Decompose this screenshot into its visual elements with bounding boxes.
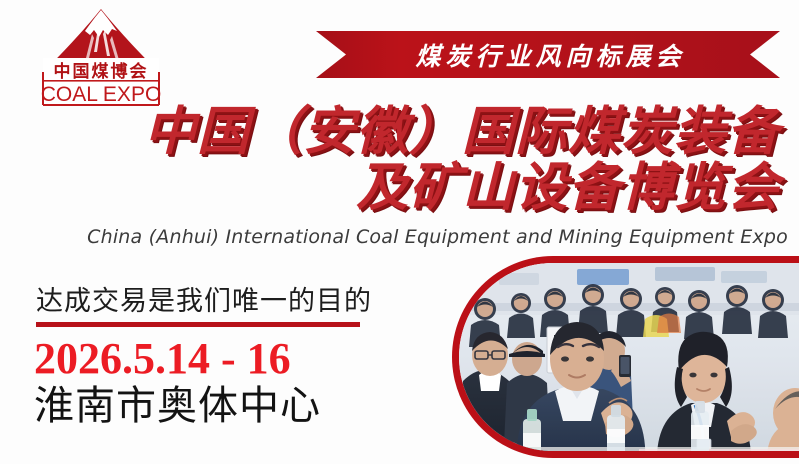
- ribbon-text: 煤炭行业风向标展会: [316, 31, 780, 78]
- coal-expo-logo: 中国煤博会 COAL EXPO: [26, 6, 176, 110]
- event-venue: 淮南市奥体中心: [34, 382, 321, 430]
- english-subtitle: China (Anhui) International Coal Equipme…: [0, 226, 788, 248]
- tagline-ribbon: 煤炭行业风向标展会: [316, 31, 780, 78]
- conference-audience-photo: [459, 263, 799, 458]
- poster-title: 中国（安徽）国际煤炭装备 及矿山设备博览会: [0, 104, 790, 216]
- slogan-underline: [36, 322, 360, 327]
- title-line-2: 及矿山设备博览会: [0, 160, 790, 216]
- title-line-1: 中国（安徽）国际煤炭装备: [0, 104, 790, 160]
- slogan-text: 达成交易是我们唯一的目的: [36, 286, 372, 318]
- expo-poster: 中国煤博会 COAL EXPO 煤炭行业风向标展会 中国（安徽）国际煤炭装备 及…: [0, 0, 799, 464]
- photo-frame: [452, 256, 799, 458]
- logo-chinese-name: 中国煤博会: [26, 62, 176, 82]
- event-date: 2026.5.14 - 16: [34, 334, 291, 384]
